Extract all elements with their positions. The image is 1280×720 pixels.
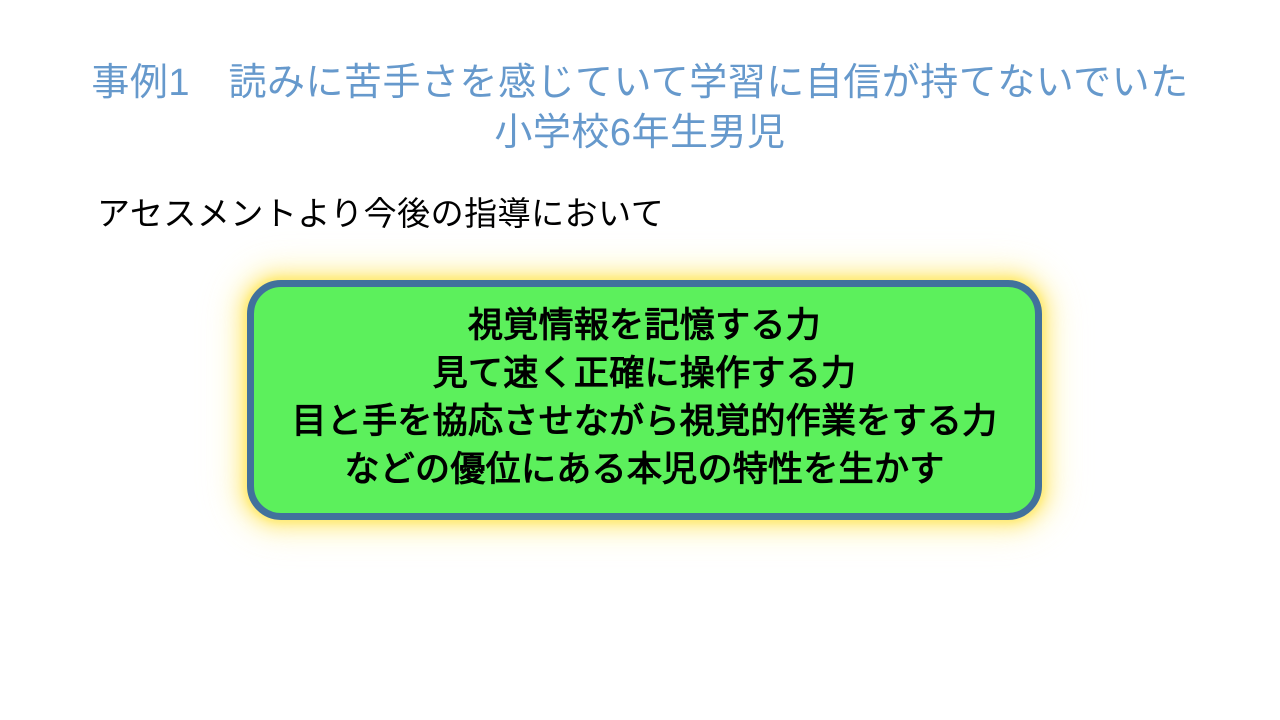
lead-in-text: アセスメントより今後の指導において [97, 192, 664, 236]
callout-line-2: 見て速く正確に操作する力 [433, 350, 857, 398]
callout-line-1: 視覚情報を記憶する力 [468, 302, 821, 350]
callout-line-3: 目と手を協応させながら視覚的作業をする力 [291, 398, 997, 446]
highlight-callout-box: 視覚情報を記憶する力 見て速く正確に操作する力 目と手を協応させながら視覚的作業… [247, 280, 1042, 520]
page-title: 事例1 読みに苦手さを感じていて学習に自信が持てないでいた 小学校6年生男児 [64, 58, 1216, 158]
callout-line-4: などの優位にある本児の特性を生かす [344, 446, 944, 494]
slide-canvas: 事例1 読みに苦手さを感じていて学習に自信が持てないでいた 小学校6年生男児 ア… [0, 0, 1280, 720]
callout-container: 視覚情報を記憶する力 見て速く正確に操作する力 目と手を協応させながら視覚的作業… [247, 280, 1042, 520]
